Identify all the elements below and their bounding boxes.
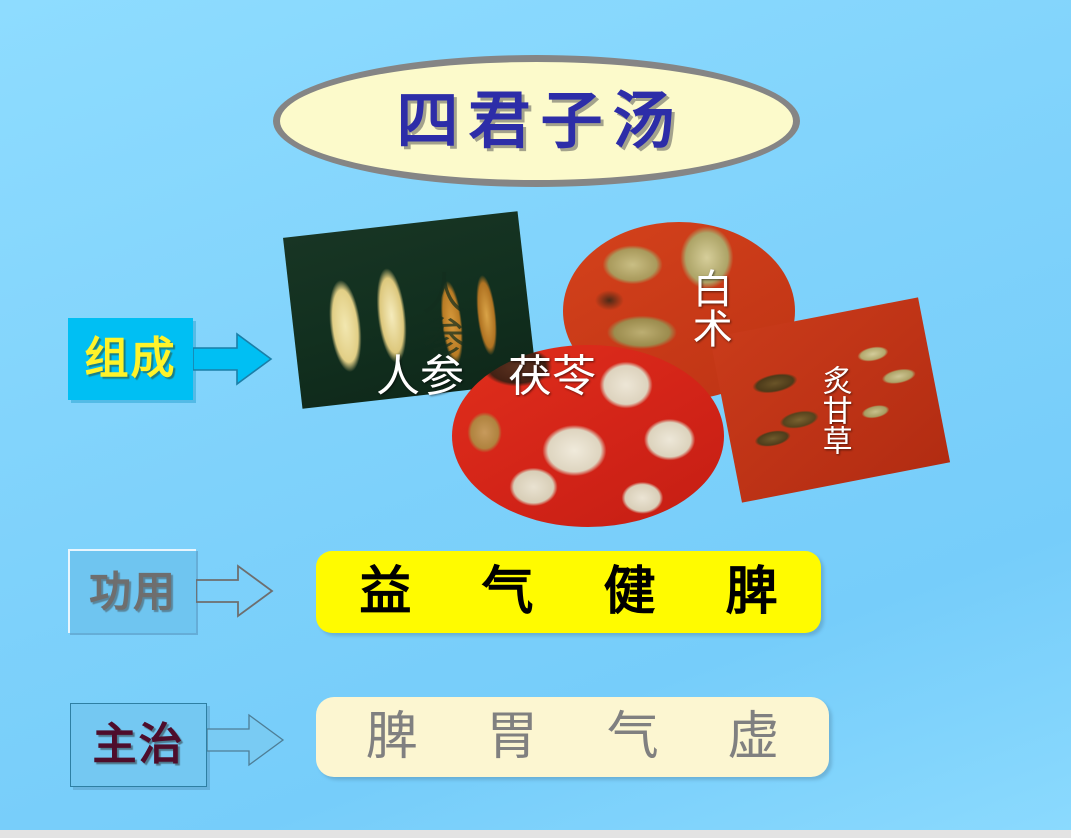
tag-function[interactable]: 功用 (68, 549, 196, 633)
poria-photo (452, 345, 724, 527)
ginseng-watermark-label: 人参 (417, 270, 463, 360)
arrow-right-icon-outline (196, 562, 274, 620)
tag-composition[interactable]: 组成 (68, 318, 193, 400)
tag-function-label: 功用 (89, 571, 177, 613)
arrow-right-icon-cyan (193, 330, 273, 388)
ginseng-label: 人参 (376, 355, 464, 400)
content-function: 益 气 健 脾 (316, 551, 821, 633)
ginseng-photo (283, 211, 537, 409)
tag-composition-label: 组成 (85, 337, 177, 381)
poria-label: 茯苓 (508, 355, 596, 400)
honey-fried-licorice-photo (710, 297, 950, 502)
content-indication-text: 脾 胃 气 虚 (340, 711, 806, 763)
arrow-right-icon-blue (207, 710, 285, 770)
tag-indication[interactable]: 主治 (70, 703, 207, 787)
atractylodes-label: 白术 (688, 268, 729, 348)
content-function-text: 益 气 健 脾 (333, 566, 803, 618)
atractylodes-photo (563, 222, 795, 400)
bottom-strip (0, 830, 1071, 838)
content-indication: 脾 胃 气 虚 (316, 697, 829, 777)
honey-fried-licorice-label: 炙甘草 (818, 365, 849, 455)
tag-indication-label: 主治 (93, 723, 185, 767)
slide-canvas: 四君子汤 人参 人参 白术 茯苓 炙甘草 组成 功用 益 气 健 脾 主治 脾 … (0, 0, 1071, 838)
slide-title-ellipse: 四君子汤 (273, 55, 800, 187)
slide-title-text: 四君子汤 (388, 90, 684, 152)
